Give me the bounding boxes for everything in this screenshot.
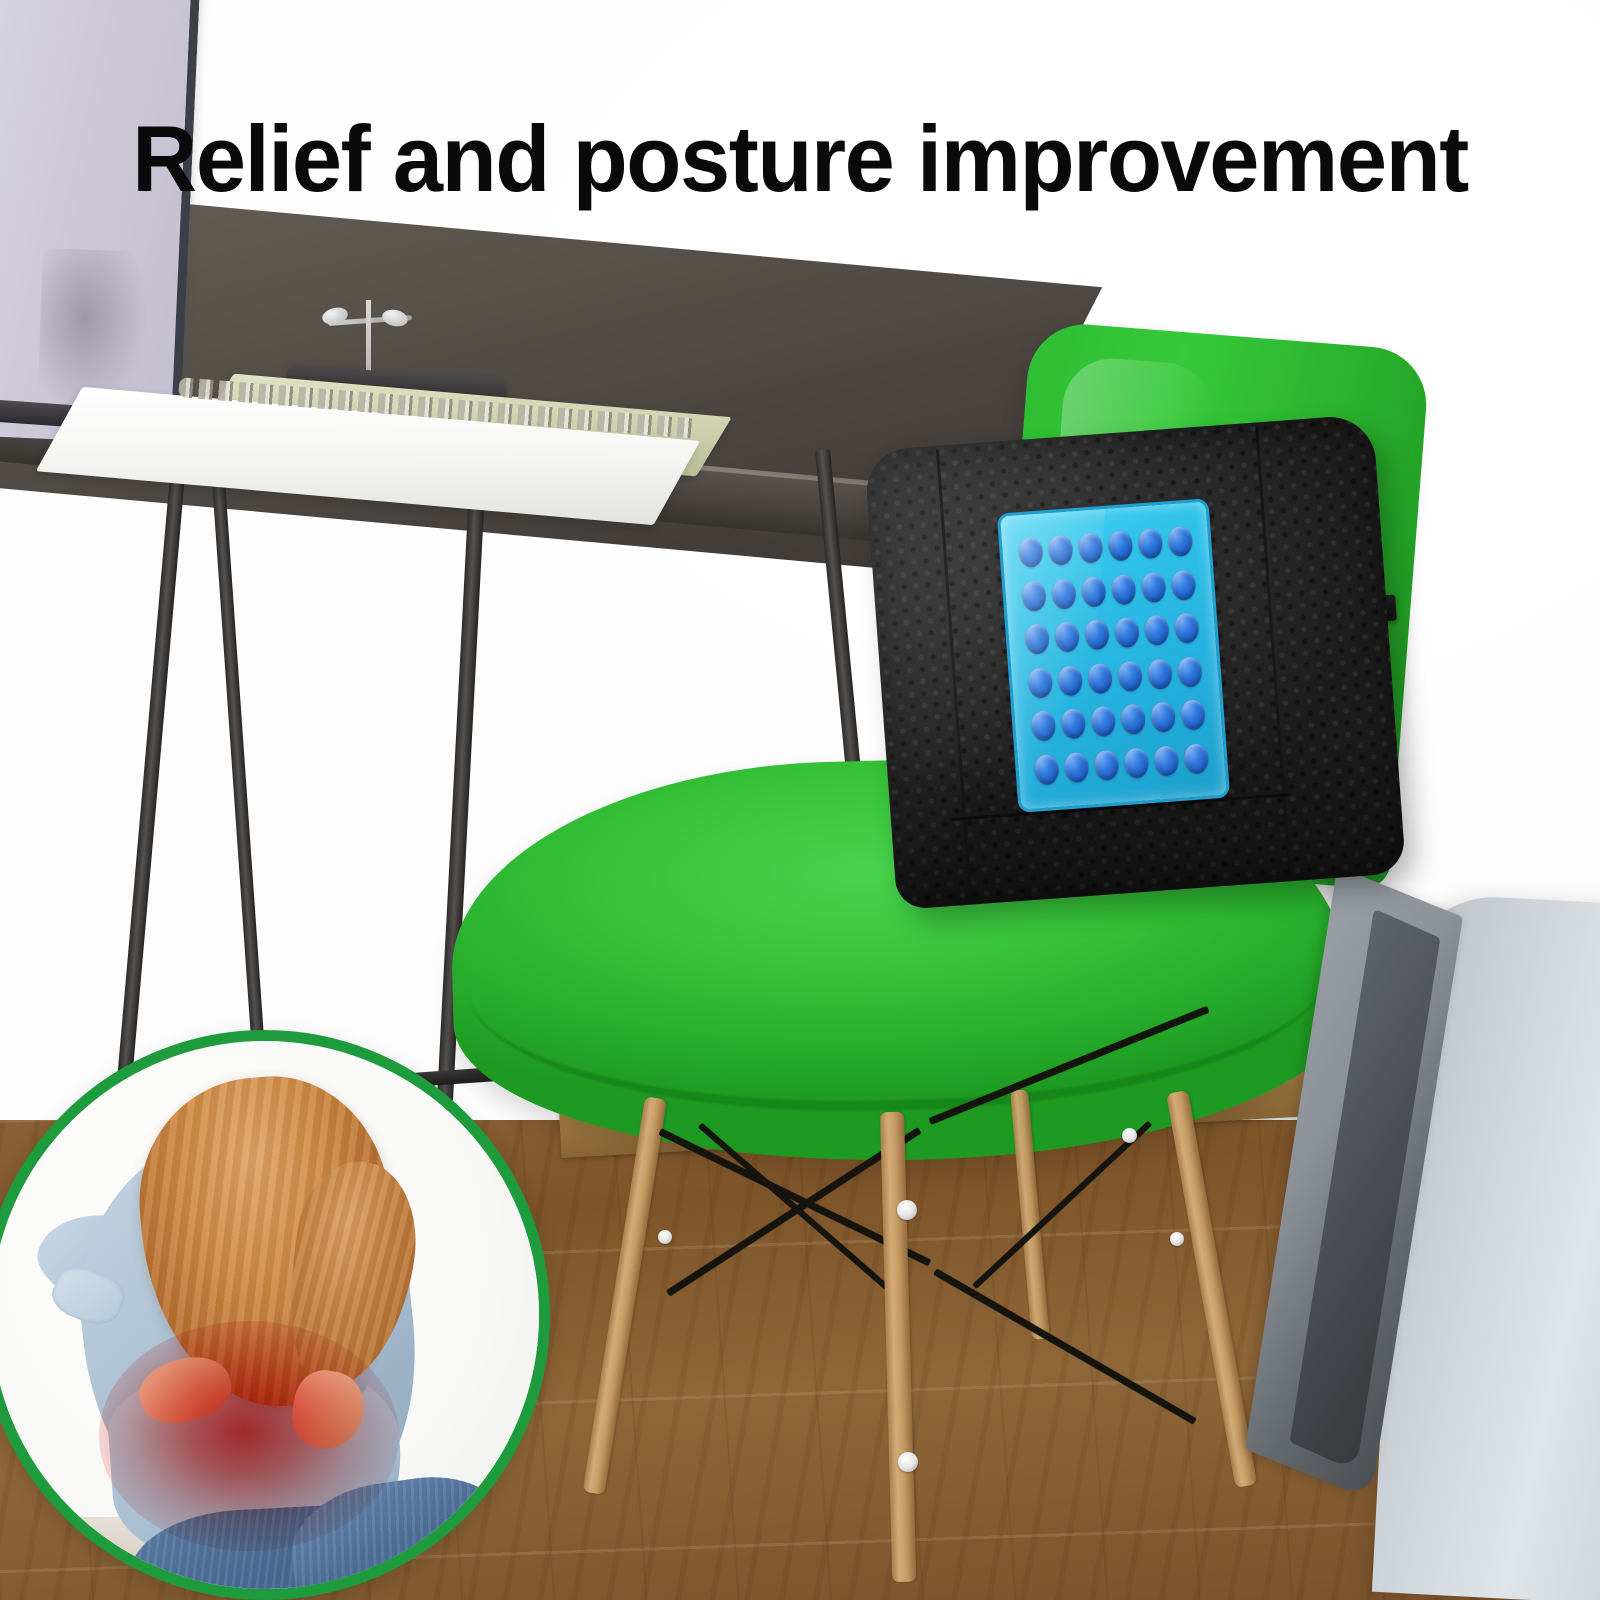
gel-nub [1033,754,1059,786]
back-pain-inset [0,1030,550,1600]
gel-nub [1024,624,1050,656]
gel-nub [1054,621,1080,653]
gel-nub [1030,710,1056,742]
gel-nub [1050,578,1076,610]
gel-nub [1174,613,1200,645]
chair-screw-cap [1122,1128,1137,1143]
gel-nub [1063,751,1089,783]
gel-nub [1077,532,1103,564]
gel-nub [1117,660,1143,692]
gel-nub [1144,615,1170,647]
gel-nub [1114,617,1140,649]
product-marketing-image: Relief and posture improvement [0,0,1600,1600]
chair-screw-cap [658,1230,672,1244]
gel-nub [1057,665,1083,697]
gel-nub [1060,708,1086,740]
gel-nub [1147,658,1173,690]
back-pain-glow [99,1321,399,1551]
gel-nub [1107,530,1133,562]
gel-nub [1087,663,1113,695]
chair-screw-cap [898,1452,918,1472]
chair-screw-cap [897,1200,917,1220]
gel-nub [1084,619,1110,651]
gel-nub [1171,569,1197,601]
gel-nub [1120,704,1146,736]
gel-nub [1093,749,1119,781]
gel-nub [1017,537,1043,569]
gel-nub [1027,667,1053,699]
gel-nub [1180,699,1206,731]
gel-nub [1138,528,1164,560]
gel-nub [1168,526,1194,558]
gel-nub [1020,580,1046,612]
gel-nub [1090,706,1116,738]
gel-nub [1111,574,1137,606]
lumbar-cushion [864,414,1406,910]
gel-nub [1081,576,1107,608]
gel-nub [1141,571,1167,603]
gel-nub [1177,656,1203,688]
gel-nub [1047,535,1073,567]
gel-nub [1123,747,1149,779]
blue-gel-pad [997,498,1230,813]
chair-screw-cap [1170,1232,1184,1246]
page-title: Relief and posture improvement [32,112,1568,206]
gel-nub [1184,743,1210,775]
gel-nub [1150,701,1176,733]
gel-nub [1153,745,1179,777]
